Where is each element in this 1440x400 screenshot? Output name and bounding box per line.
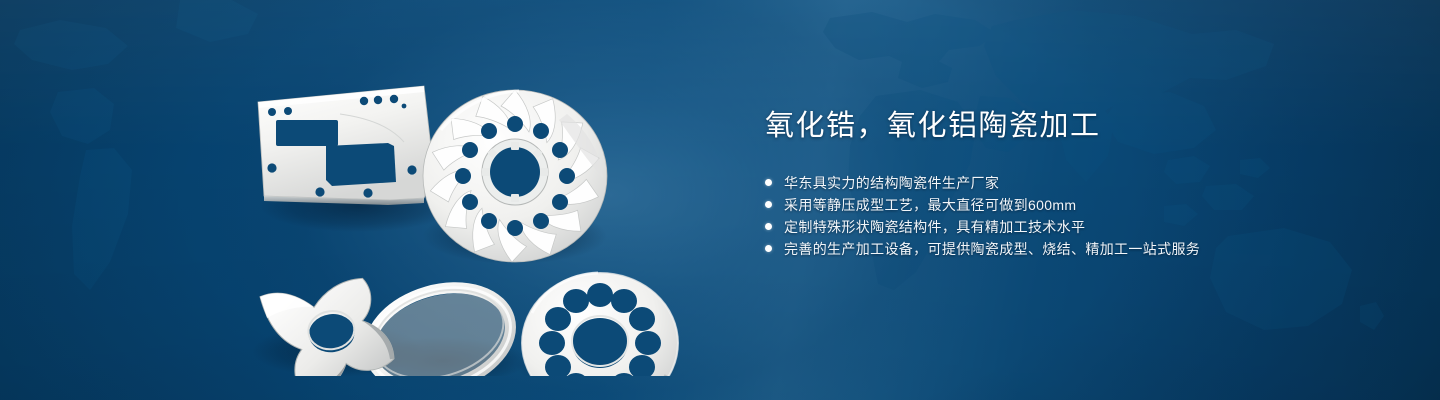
- product-image-cluster: [228, 46, 698, 376]
- feature-text: 华东具实力的结构陶瓷件生产厂家: [784, 172, 999, 194]
- ceramic-hole-ring-part: [522, 273, 678, 376]
- list-item: 采用等静压成型工艺，最大直径可做到600mm: [765, 194, 1385, 216]
- banner-copy: 氧化锆，氧化铝陶瓷加工 华东具实力的结构陶瓷件生产厂家 采用等静压成型工艺，最大…: [765, 108, 1385, 260]
- feature-list: 华东具实力的结构陶瓷件生产厂家 采用等静压成型工艺，最大直径可做到600mm 定…: [765, 172, 1385, 260]
- list-item: 定制特殊形状陶瓷结构件，具有精加工技术水平: [765, 216, 1385, 238]
- bullet-dot-icon: [765, 179, 772, 186]
- banner-headline: 氧化锆，氧化铝陶瓷加工: [765, 108, 1385, 146]
- list-item: 华东具实力的结构陶瓷件生产厂家: [765, 172, 1385, 194]
- hero-banner: 氧化锆，氧化铝陶瓷加工 华东具实力的结构陶瓷件生产厂家 采用等静压成型工艺，最大…: [0, 0, 1440, 400]
- bullet-dot-icon: [765, 245, 772, 252]
- feature-text: 定制特殊形状陶瓷结构件，具有精加工技术水平: [784, 216, 1085, 238]
- list-item: 完善的生产加工设备，可提供陶瓷成型、烧结、精加工一站式服务: [765, 238, 1385, 260]
- ceramic-plate-part: [258, 86, 434, 205]
- feature-text: 完善的生产加工设备，可提供陶瓷成型、烧结、精加工一站式服务: [784, 238, 1200, 260]
- feature-text: 采用等静压成型工艺，最大直径可做到600mm: [784, 194, 1076, 216]
- bullet-dot-icon: [765, 223, 772, 230]
- bullet-dot-icon: [765, 201, 772, 208]
- ceramic-impeller-part: [423, 90, 607, 262]
